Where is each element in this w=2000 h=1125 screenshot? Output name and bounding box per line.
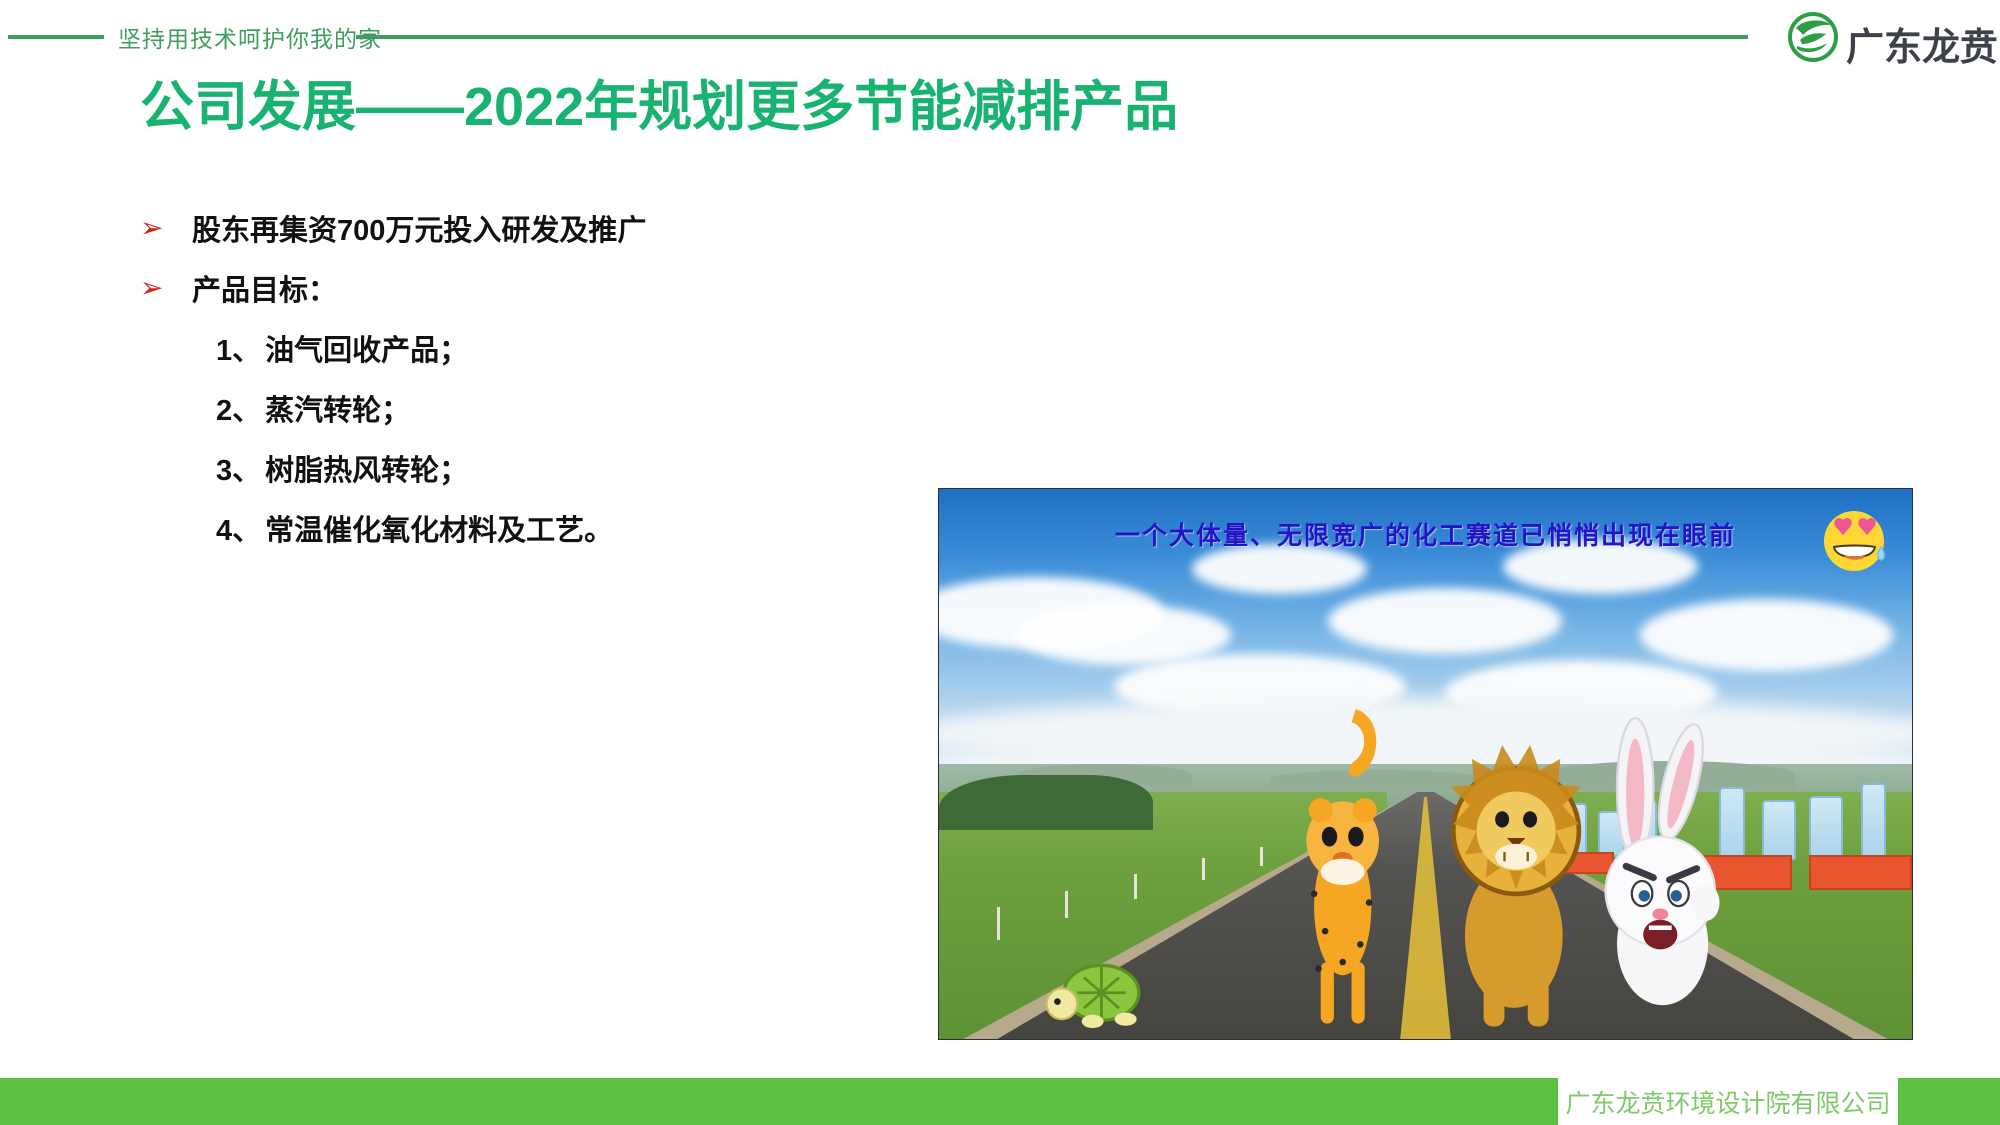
fence-post [1065, 891, 1068, 919]
turtle-icon [1036, 940, 1162, 1028]
fence-post [997, 907, 1000, 940]
list-item-label: 产品目标： [192, 267, 337, 309]
fence-post [1134, 874, 1137, 899]
page-title: 公司发展——2022年规划更多节能减排产品 [140, 62, 1178, 141]
list-item: 1、 油气回收产品； [140, 318, 900, 378]
footer-company-name: 广东龙贲环境设计院有限公司 [1558, 1078, 1898, 1125]
treeline [939, 775, 1153, 830]
header-rule-left [8, 35, 104, 39]
logo-wordmark: 广东龙贲 [1846, 16, 1998, 71]
list-item-label: 油气回收产品； [265, 327, 468, 369]
angry-rabbit-icon [1581, 709, 1746, 1028]
photo-caption: 一个大体量、无限宽广的化工赛道已悄悄出现在眼前 [939, 516, 1912, 552]
slide-photo: 一个大体量、无限宽广的化工赛道已悄悄出现在眼前 [938, 488, 1913, 1040]
list-item: 4、 常温催化氧化材料及工艺。 [140, 498, 900, 558]
header-rule-right [356, 35, 1748, 39]
list-item-index: 2、 [216, 387, 261, 429]
list-item: ➢ 产品目标： [140, 258, 900, 318]
leaf-hand-circle-emblem [1788, 12, 1838, 62]
company-logo: 广东龙贲 [1788, 10, 1988, 66]
list-item-label: 股东再集资700万元投入研发及推广 [192, 207, 646, 249]
list-item: 2、 蒸汽转轮； [140, 378, 900, 438]
slide-canvas: 坚持用技术呵护你我的家 广东龙贲 公司发展——2022年规划更多节能减排产品 ➢… [0, 0, 2000, 1125]
cheetah-icon [1260, 698, 1425, 1028]
list-item: 3、 树脂热风转轮； [140, 438, 900, 498]
list-item-label: 常温催化氧化材料及工艺。 [265, 507, 613, 549]
list-item-index: 3、 [216, 447, 261, 489]
arrow-bullet-icon: ➢ [140, 274, 192, 302]
list-item-label: 树脂热风转轮； [265, 447, 468, 489]
arrow-bullet-icon: ➢ [140, 214, 192, 242]
header-tagline: 坚持用技术呵护你我的家 [118, 20, 382, 54]
list-item-index: 1、 [216, 327, 261, 369]
cloud [1640, 599, 1893, 671]
heart-eyes-smiling-face-with-sweat-icon [1820, 505, 1892, 577]
bullet-list: ➢ 股东再集资700万元投入研发及推广 ➢ 产品目标： 1、 油气回收产品； 2… [140, 198, 900, 558]
list-item-index: 4、 [216, 507, 261, 549]
list-item-label: 蒸汽转轮； [265, 387, 410, 429]
cloud [1017, 605, 1231, 666]
cloud [1328, 588, 1562, 654]
fence-post [1202, 858, 1205, 880]
list-item: ➢ 股东再集资700万元投入研发及推广 [140, 198, 900, 258]
